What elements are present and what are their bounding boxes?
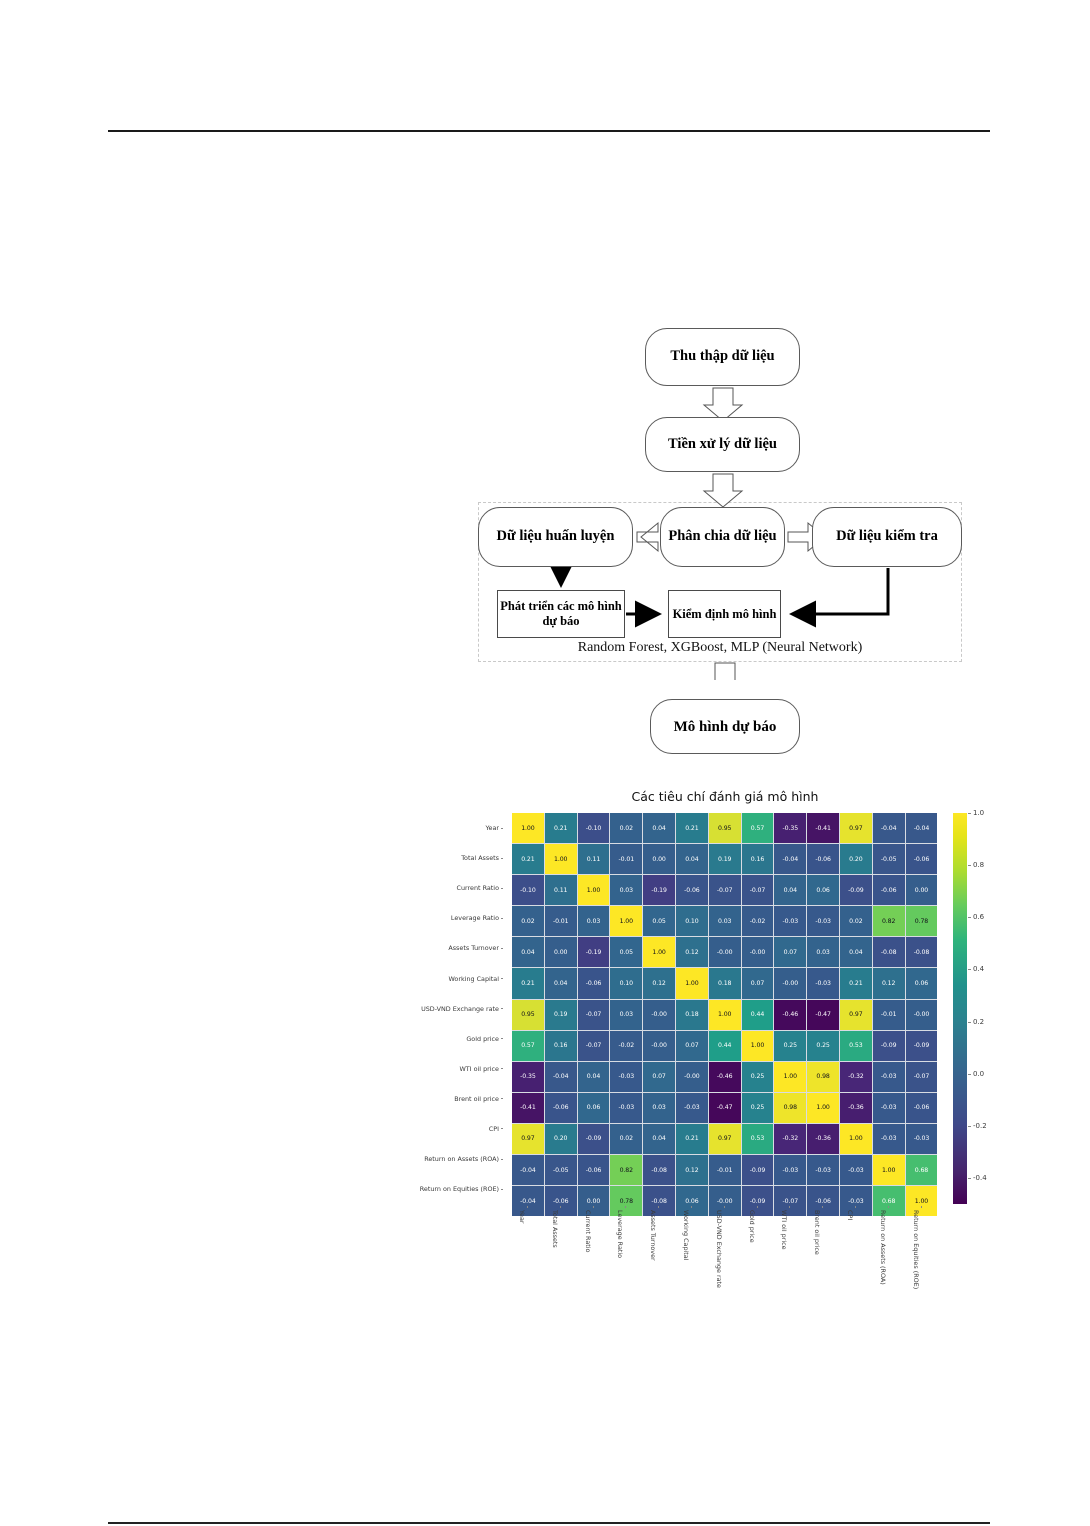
- heatmap-cell: 0.95: [512, 1000, 544, 1030]
- heatmap-cell: 0.21: [676, 813, 708, 843]
- colorbar-tick-label: 0.6: [968, 913, 984, 921]
- heatmap-cell: -0.06: [906, 1093, 938, 1123]
- heatmap-column-label: Working Capital: [682, 1210, 690, 1261]
- heatmap-cell: -0.32: [840, 1062, 872, 1092]
- heatmap-cell: 0.98: [807, 1062, 839, 1092]
- heatmap-row-label: Current Ratio: [400, 873, 508, 903]
- heatmap-row-label: Gold price: [400, 1024, 508, 1054]
- heatmap-row-label: Working Capital: [400, 963, 508, 993]
- heatmap-column-label: Brent oil price: [813, 1210, 821, 1255]
- heatmap-column-label: USD-VND Exchange rate: [715, 1210, 723, 1288]
- heatmap-grid: 1.000.21-0.100.020.040.210.950.57-0.35-0…: [512, 813, 937, 1216]
- heatmap-column-tick: [822, 1206, 823, 1208]
- heatmap-cell: 0.07: [774, 937, 806, 967]
- heatmap-cell: 0.78: [906, 906, 938, 936]
- colorbar-tick-label: 0.2: [968, 1018, 984, 1026]
- heatmap-cell: -0.06: [807, 844, 839, 874]
- heatmap-cell: 1.00: [840, 1124, 872, 1154]
- heatmap-cell: -0.03: [774, 906, 806, 936]
- heatmap-cell: 0.68: [906, 1155, 938, 1185]
- heatmap-cell: -0.32: [774, 1124, 806, 1154]
- heatmap-cell: -0.19: [578, 937, 610, 967]
- heatmap-column-label-slot: Working Capital: [676, 1206, 709, 1306]
- heatmap-column-tick: [593, 1206, 594, 1208]
- heatmap-cell: -0.36: [807, 1124, 839, 1154]
- heatmap-cell: -0.08: [873, 937, 905, 967]
- heatmap-cell: -0.01: [709, 1155, 741, 1185]
- heatmap-cell: -0.00: [774, 968, 806, 998]
- heatmap-cell: 0.06: [906, 968, 938, 998]
- heatmap-cell: -0.03: [807, 1155, 839, 1185]
- heatmap-cell: -0.00: [709, 937, 741, 967]
- heatmap-row-label: Total Assets: [400, 843, 508, 873]
- colorbar-tick-label: 0.4: [968, 965, 984, 973]
- colorbar-tick-label: -0.2: [968, 1122, 987, 1130]
- heatmap-cell: 1.00: [709, 1000, 741, 1030]
- heatmap-column-label: Return on Assets (ROA): [879, 1210, 887, 1285]
- heatmap-cell: -0.04: [906, 813, 938, 843]
- heatmap-cell: 0.21: [676, 1124, 708, 1154]
- heatmap-cell: -0.06: [873, 875, 905, 905]
- heatmap-cell: -0.08: [643, 1155, 675, 1185]
- heatmap-cell: 0.04: [840, 937, 872, 967]
- heatmap-cell: 0.20: [840, 844, 872, 874]
- heatmap-column-label-slot: Brent oil price: [807, 1206, 840, 1306]
- heatmap-column-label: Gold price: [748, 1210, 756, 1243]
- flowchart-node-develop-models[interactable]: Phát triển các mô hình dự báo: [497, 590, 625, 638]
- heatmap-row-label: Year: [400, 813, 508, 843]
- heatmap-column-tick: [625, 1206, 626, 1208]
- heatmap-row-label: Return on Assets (ROA): [400, 1144, 508, 1174]
- heatmap-column-tick: [691, 1206, 692, 1208]
- heatmap-cell: 0.07: [643, 1062, 675, 1092]
- heatmap-column-label: Year: [518, 1210, 526, 1224]
- heatmap-colorbar-ticks: 1.00.80.60.40.20.0-0.2-0.4: [968, 813, 1028, 1204]
- heatmap-cell: -0.00: [906, 1000, 938, 1030]
- flowchart-node-data-preprocessing[interactable]: Tiền xử lý dữ liệu: [645, 417, 800, 472]
- heatmap-cell: -0.09: [578, 1124, 610, 1154]
- heatmap-column-label-slot: Leverage Ratio: [610, 1206, 643, 1306]
- heatmap-column-tick: [855, 1206, 856, 1208]
- flowchart-node-data-collection[interactable]: Thu thập dữ liệu: [645, 328, 800, 386]
- heatmap-cell: 0.18: [709, 968, 741, 998]
- heatmap-column-label: Current Ratio: [584, 1210, 592, 1252]
- heatmap-cell: 1.00: [578, 875, 610, 905]
- heatmap-cell: 0.04: [643, 1124, 675, 1154]
- heatmap-cell: -0.04: [545, 1062, 577, 1092]
- heatmap-cell: -0.02: [610, 1031, 642, 1061]
- heatmap-row-label: Return on Equities (ROE): [400, 1174, 508, 1204]
- heatmap-cell: 0.25: [742, 1062, 774, 1092]
- heatmap-column-label-slot: USD-VND Exchange rate: [709, 1206, 742, 1306]
- heatmap-cell: 0.11: [578, 844, 610, 874]
- heatmap-cell: -0.04: [512, 1155, 544, 1185]
- heatmap-column-label: Assets Turnover: [649, 1210, 657, 1261]
- heatmap-cell: 1.00: [873, 1155, 905, 1185]
- heatmap-cell: -0.07: [578, 1031, 610, 1061]
- heatmap-cell: 1.00: [774, 1062, 806, 1092]
- heatmap-cell: -0.47: [709, 1093, 741, 1123]
- heatmap-cell: 0.53: [840, 1031, 872, 1061]
- heatmap-cell: -0.00: [676, 1062, 708, 1092]
- heatmap-cell: 1.00: [512, 813, 544, 843]
- heatmap-cell: 0.02: [610, 1124, 642, 1154]
- heatmap-cell: 0.04: [578, 1062, 610, 1092]
- heatmap-cell: -0.07: [709, 875, 741, 905]
- flowchart-node-training-data[interactable]: Dữ liệu huấn luyện: [478, 507, 633, 567]
- heatmap-column-label-slot: Year: [512, 1206, 545, 1306]
- heatmap-cell: -0.03: [873, 1124, 905, 1154]
- heatmap-cell: 0.02: [512, 906, 544, 936]
- heatmap-column-label-slot: Assets Turnover: [643, 1206, 676, 1306]
- heatmap-cell: 0.97: [709, 1124, 741, 1154]
- heatmap-column-label-slot: Gold price: [742, 1206, 775, 1306]
- heatmap-cell: -0.07: [906, 1062, 938, 1092]
- heatmap-cell: 0.03: [807, 937, 839, 967]
- heatmap-cell: 0.21: [512, 844, 544, 874]
- heatmap-cell: 0.04: [512, 937, 544, 967]
- heatmap-column-label: CPI: [846, 1210, 854, 1220]
- heatmap-cell: -0.41: [807, 813, 839, 843]
- colorbar-tick-label: 0.0: [968, 1070, 984, 1078]
- colorbar-tick-label: -0.4: [968, 1174, 987, 1182]
- heatmap-cell: -0.09: [873, 1031, 905, 1061]
- heatmap-column-tick: [527, 1206, 528, 1208]
- heatmap-cell: 0.20: [545, 1124, 577, 1154]
- heatmap-cell: -0.01: [545, 906, 577, 936]
- heatmap-cell: 1.00: [676, 968, 708, 998]
- heatmap-cell: -0.36: [840, 1093, 872, 1123]
- heatmap-cell: -0.03: [807, 968, 839, 998]
- heatmap-cell: 0.05: [643, 906, 675, 936]
- heatmap-cell: 0.25: [742, 1093, 774, 1123]
- page-footer-rule: [108, 1522, 990, 1524]
- heatmap-cell: -0.03: [873, 1062, 905, 1092]
- heatmap-column-label-slot: WTI oil price: [774, 1206, 807, 1306]
- heatmap-cell: -0.05: [545, 1155, 577, 1185]
- heatmap-column-label-slot: CPI: [840, 1206, 873, 1306]
- heatmap-cell: 1.00: [643, 937, 675, 967]
- heatmap-cell: 0.53: [742, 1124, 774, 1154]
- heatmap-column-labels: YearTotal AssetsCurrent RatioLeverage Ra…: [512, 1206, 938, 1306]
- heatmap-cell: 0.82: [873, 906, 905, 936]
- heatmap-cell: 0.21: [512, 968, 544, 998]
- heatmap-column-tick: [560, 1206, 561, 1208]
- heatmap-row-label: Leverage Ratio: [400, 903, 508, 933]
- page-header-rule: [108, 130, 990, 132]
- heatmap-cell: -0.05: [873, 844, 905, 874]
- heatmap-cell: -0.04: [873, 813, 905, 843]
- heatmap-cell: 0.03: [709, 906, 741, 936]
- heatmap-column-tick: [888, 1206, 889, 1208]
- heatmap-column-tick: [724, 1206, 725, 1208]
- heatmap-cell: -0.00: [643, 1000, 675, 1030]
- heatmap-cell: 0.07: [676, 1031, 708, 1061]
- heatmap-cell: 0.12: [676, 1155, 708, 1185]
- heatmap-cell: -0.06: [578, 968, 610, 998]
- heatmap-cell: -0.41: [512, 1093, 544, 1123]
- heatmap-cell: 1.00: [610, 906, 642, 936]
- research-process-flowchart: Thu thập dữ liệu Tiền xử lý dữ liệu Phân…: [0, 150, 1090, 680]
- heatmap-cell: -0.07: [742, 875, 774, 905]
- heatmap-cell: 0.00: [643, 844, 675, 874]
- heatmap-column-label: Leverage Ratio: [616, 1210, 624, 1258]
- heatmap-column-tick: [921, 1206, 922, 1208]
- heatmap-cell: 0.12: [676, 937, 708, 967]
- heatmap-cell: -0.00: [742, 937, 774, 967]
- heatmap-cell: 0.16: [545, 1031, 577, 1061]
- heatmap-cell: -0.06: [578, 1155, 610, 1185]
- heatmap-cell: -0.09: [742, 1155, 774, 1185]
- heatmap-cell: 0.10: [676, 906, 708, 936]
- flowchart-node-data-split[interactable]: Phân chia dữ liệu: [660, 507, 785, 567]
- heatmap-cell: 1.00: [807, 1093, 839, 1123]
- heatmap-cell: -0.07: [578, 1000, 610, 1030]
- heatmap-cell: -0.35: [512, 1062, 544, 1092]
- colorbar-tick-label: 0.8: [968, 861, 984, 869]
- heatmap-cell: -0.03: [610, 1062, 642, 1092]
- heatmap-column-label-slot: Return on Assets (ROA): [873, 1206, 906, 1306]
- heatmap-cell: 0.19: [545, 1000, 577, 1030]
- heatmap-cell: 0.05: [610, 937, 642, 967]
- heatmap-cell: -0.03: [676, 1093, 708, 1123]
- flowchart-node-forecast-model[interactable]: Mô hình dự báo: [650, 699, 800, 754]
- heatmap-cell: 0.57: [512, 1031, 544, 1061]
- heatmap-cell: 0.12: [643, 968, 675, 998]
- heatmap-cell: 0.00: [545, 937, 577, 967]
- heatmap-cell: 0.18: [676, 1000, 708, 1030]
- heatmap-cell: 0.11: [545, 875, 577, 905]
- heatmap-cell: 0.98: [774, 1093, 806, 1123]
- heatmap-cell: 0.04: [643, 813, 675, 843]
- heatmap-cell: -0.46: [709, 1062, 741, 1092]
- heatmap-cell: -0.10: [578, 813, 610, 843]
- heatmap-cell: 0.07: [742, 968, 774, 998]
- heatmap-cell: -0.03: [610, 1093, 642, 1123]
- heatmap-cell: 0.97: [840, 813, 872, 843]
- heatmap-cell: -0.35: [774, 813, 806, 843]
- flowchart-group-caption: Random Forest, XGBoost, MLP (Neural Netw…: [478, 640, 962, 656]
- heatmap-cell: 0.97: [840, 1000, 872, 1030]
- heatmap-cell: -0.04: [774, 844, 806, 874]
- heatmap-cell: -0.01: [873, 1000, 905, 1030]
- heatmap-cell: -0.08: [906, 937, 938, 967]
- flowchart-node-validate-model[interactable]: Kiểm định mô hình: [668, 590, 781, 638]
- heatmap-cell: -0.10: [512, 875, 544, 905]
- heatmap-column-label-slot: Return on Equities (ROE): [906, 1206, 939, 1306]
- heatmap-cell: -0.09: [906, 1031, 938, 1061]
- heatmap-cell: 0.44: [709, 1031, 741, 1061]
- heatmap-cell: 0.06: [578, 1093, 610, 1123]
- heatmap-column-tick: [658, 1206, 659, 1208]
- heatmap-cell: -0.47: [807, 1000, 839, 1030]
- heatmap-cell: 0.02: [840, 906, 872, 936]
- heatmap-row-label: Assets Turnover: [400, 933, 508, 963]
- heatmap-column-tick: [757, 1206, 758, 1208]
- heatmap-cell: -0.06: [906, 844, 938, 874]
- heatmap-cell: 0.82: [610, 1155, 642, 1185]
- heatmap-row-label: CPI: [400, 1114, 508, 1144]
- heatmap-column-label-slot: Total Assets: [545, 1206, 578, 1306]
- heatmap-cell: -0.00: [643, 1031, 675, 1061]
- heatmap-cell: -0.02: [742, 906, 774, 936]
- heatmap-column-label-slot: Current Ratio: [578, 1206, 611, 1306]
- heatmap-cell: 0.00: [906, 875, 938, 905]
- flowchart-node-testing-data[interactable]: Dữ liệu kiểm tra: [812, 507, 962, 567]
- heatmap-row-labels: YearTotal AssetsCurrent RatioLeverage Ra…: [400, 813, 508, 1204]
- heatmap-cell: -0.01: [610, 844, 642, 874]
- heatmap-colorbar: [953, 813, 967, 1204]
- heatmap-column-tick: [789, 1206, 790, 1208]
- heatmap-cell: -0.19: [643, 875, 675, 905]
- heatmap-column-label: Total Assets: [551, 1210, 559, 1248]
- heatmap-cell: -0.03: [873, 1093, 905, 1123]
- heatmap-cell: -0.03: [840, 1155, 872, 1185]
- heatmap-cell: 0.25: [774, 1031, 806, 1061]
- heatmap-cell: 0.03: [578, 906, 610, 936]
- heatmap-cell: 0.06: [807, 875, 839, 905]
- heatmap-cell: 0.95: [709, 813, 741, 843]
- heatmap-row-label: WTI oil price: [400, 1054, 508, 1084]
- heatmap-cell: 1.00: [742, 1031, 774, 1061]
- heatmap-cell: 0.10: [610, 968, 642, 998]
- heatmap-cell: -0.03: [906, 1124, 938, 1154]
- heatmap-cell: 0.04: [545, 968, 577, 998]
- heatmap-cell: 0.03: [610, 1000, 642, 1030]
- heatmap-cell: 0.21: [840, 968, 872, 998]
- heatmap-row-label: USD-VND Exchange rate: [400, 994, 508, 1024]
- heatmap-cell: 0.19: [709, 844, 741, 874]
- heatmap-cell: 0.21: [545, 813, 577, 843]
- heatmap-cell: 0.04: [774, 875, 806, 905]
- heatmap-column-label: WTI oil price: [780, 1210, 788, 1250]
- heatmap-row-label: Brent oil price: [400, 1084, 508, 1114]
- arrow-group-to-forecast: [706, 663, 744, 680]
- heatmap-cell: 0.44: [742, 1000, 774, 1030]
- heatmap-cell: 0.04: [676, 844, 708, 874]
- heatmap-cell: 0.57: [742, 813, 774, 843]
- heatmap-column-label: Return on Equities (ROE): [912, 1210, 920, 1289]
- heatmap-cell: 0.97: [512, 1124, 544, 1154]
- heatmap-cell: 0.25: [807, 1031, 839, 1061]
- heatmap-cell: 0.12: [873, 968, 905, 998]
- heatmap-cell: 0.02: [610, 813, 642, 843]
- heatmap-cell: -0.46: [774, 1000, 806, 1030]
- heatmap-cell: -0.03: [807, 906, 839, 936]
- heatmap-cell: -0.06: [545, 1093, 577, 1123]
- heatmap-cell: -0.06: [676, 875, 708, 905]
- heatmap-cell: 0.03: [643, 1093, 675, 1123]
- colorbar-tick-label: 1.0: [968, 809, 984, 817]
- heatmap-cell: 0.16: [742, 844, 774, 874]
- heatmap-cell: 0.03: [610, 875, 642, 905]
- heatmap-cell: -0.03: [774, 1155, 806, 1185]
- heatmap-cell: 1.00: [545, 844, 577, 874]
- heatmap-cell: -0.09: [840, 875, 872, 905]
- correlation-heatmap-figure: YearTotal AssetsCurrent RatioLeverage Ra…: [400, 782, 1060, 1342]
